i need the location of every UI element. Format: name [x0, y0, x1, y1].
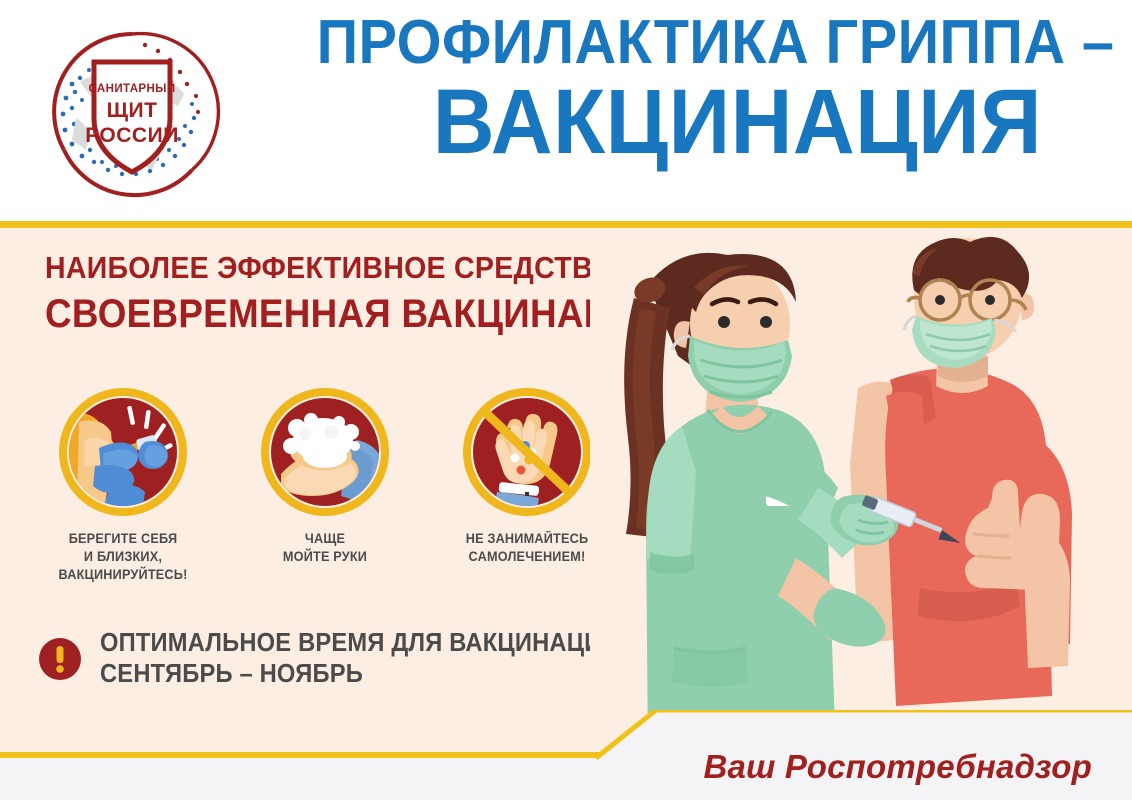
exclamation-mark-icon	[38, 637, 82, 681]
title-line-1: ПРОФИЛАКТИКА ГРИППА –	[317, 14, 1042, 72]
nurse-and-patient-illustration	[590, 228, 1132, 752]
no-self-medication-icon	[463, 388, 591, 516]
optimal-time-text: ОПТИМАЛЬНОЕ ВРЕМЯ ДЛЯ ВАКЦИНАЦИИ – СЕНТЯ…	[100, 628, 639, 690]
poster-header: САНИТАРНЫЙ ЩИТ РОССИИ ПРОФИЛАКТИКА ГРИПП…	[0, 0, 1132, 221]
note-line-2: СЕНТЯБРЬ – НОЯБРЬ	[100, 659, 639, 690]
prevention-item-vaccination: БЕРЕГИТЕ СЕБЯ И БЛИЗКИХ, ВАКЦИНИРУЙТЕСЬ!	[45, 388, 201, 583]
logo-line-2: ЩИТ	[107, 99, 158, 122]
gold-divider-top	[0, 221, 1132, 228]
logo-line-3: РОССИИ	[85, 124, 179, 147]
poster-body-panel: НАИБОЛЕЕ ЭФФЕКТИВНОЕ СРЕДСТВО ЗАЩИТЫ ОТ …	[0, 228, 1132, 752]
vaccination-injection-icon	[59, 388, 187, 516]
prevention-item-no-selfmed: НЕ ЗАНИМАЙТЕСЬ САМОЛЕЧЕНИЕМ!	[449, 388, 605, 583]
note-line-1: ОПТИМАЛЬНОЕ ВРЕМЯ ДЛЯ ВАКЦИНАЦИИ –	[100, 628, 639, 659]
title-line-2: ВАКЦИНАЦИЯ	[317, 78, 1042, 166]
footer-banner: Ваш Роспотребнадзор	[596, 710, 1132, 800]
icon-caption-no-selfmed: НЕ ЗАНИМАЙТЕСЬ САМОЛЕЧЕНИЕМ!	[454, 530, 601, 566]
hand-washing-icon	[261, 388, 389, 516]
icon-caption-handwash: ЧАЩЕ МОЙТЕ РУКИ	[252, 530, 399, 566]
poster-title: ПРОФИЛАКТИКА ГРИППА – ВАКЦИНАЦИЯ	[262, 14, 1042, 214]
optimal-time-note: ОПТИМАЛЬНОЕ ВРЕМЯ ДЛЯ ВАКЦИНАЦИИ – СЕНТЯ…	[38, 628, 679, 690]
prevention-item-handwash: ЧАЩЕ МОЙТЕ РУКИ	[247, 388, 403, 583]
prevention-icons-row: БЕРЕГИТЕ СЕБЯ И БЛИЗКИХ, ВАКЦИНИРУЙТЕСЬ!	[45, 388, 605, 583]
poster-root: САНИТАРНЫЙ ЩИТ РОССИИ ПРОФИЛАКТИКА ГРИПП…	[0, 0, 1132, 800]
icon-caption-vaccination: БЕРЕГИТЕ СЕБЯ И БЛИЗКИХ, ВАКЦИНИРУЙТЕСЬ!	[50, 530, 197, 583]
footer-text: Ваш Роспотребнадзор	[703, 748, 1092, 786]
sanitary-shield-logo: САНИТАРНЫЙ ЩИТ РОССИИ	[42, 22, 222, 202]
logo-line-1: САНИТАРНЫЙ	[89, 82, 176, 95]
